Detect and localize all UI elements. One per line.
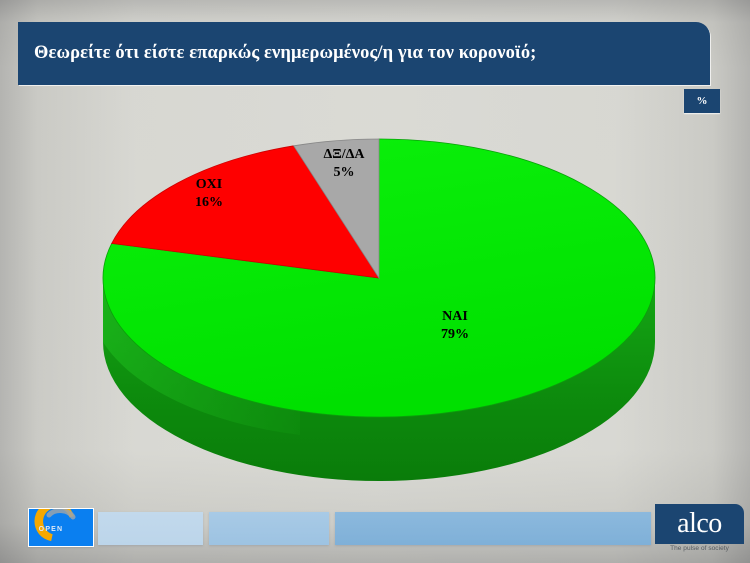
pie-top-face <box>103 139 655 417</box>
footer-bar <box>0 500 750 563</box>
unit-badge: % <box>684 89 720 113</box>
alco-logo-text: alco <box>655 504 744 544</box>
page-title: Θεωρείτε ότι είστε επαρκώς ενημερωμένος/… <box>34 22 700 85</box>
pie-chart-svg: ΝΑΙ 79% ΟΧΙ 16% ΔΞ/ΔΑ 5% <box>0 120 750 490</box>
slice-label-oxi-name: ΟΧΙ <box>196 177 222 192</box>
slice-label-oxi-value: 16% <box>195 195 223 210</box>
slide-canvas: Θεωρείτε ότι είστε επαρκώς ενημερωμένος/… <box>0 0 750 563</box>
slice-label-dksi-da-value: 5% <box>334 165 355 180</box>
footer-segment-1 <box>98 512 203 545</box>
slice-label-nai-value: 79% <box>441 327 469 342</box>
alco-tagline: The pulse of society <box>655 545 744 552</box>
open-logo-swoosh-icon: OPEN <box>29 509 93 546</box>
slice-label-dksi-da-name: ΔΞ/ΔΑ <box>323 147 365 162</box>
open-logo-text: OPEN <box>39 526 64 533</box>
open-logo: OPEN <box>29 509 93 546</box>
slice-label-nai-name: ΝΑΙ <box>442 309 468 324</box>
title-banner: Θεωρείτε ότι είστε επαρκώς ενημερωμένος/… <box>18 22 710 85</box>
footer-segment-2 <box>209 512 329 545</box>
pie-chart: ΝΑΙ 79% ΟΧΙ 16% ΔΞ/ΔΑ 5% <box>0 120 750 490</box>
footer-segment-3 <box>335 512 651 545</box>
alco-logo: alco <box>655 504 744 544</box>
